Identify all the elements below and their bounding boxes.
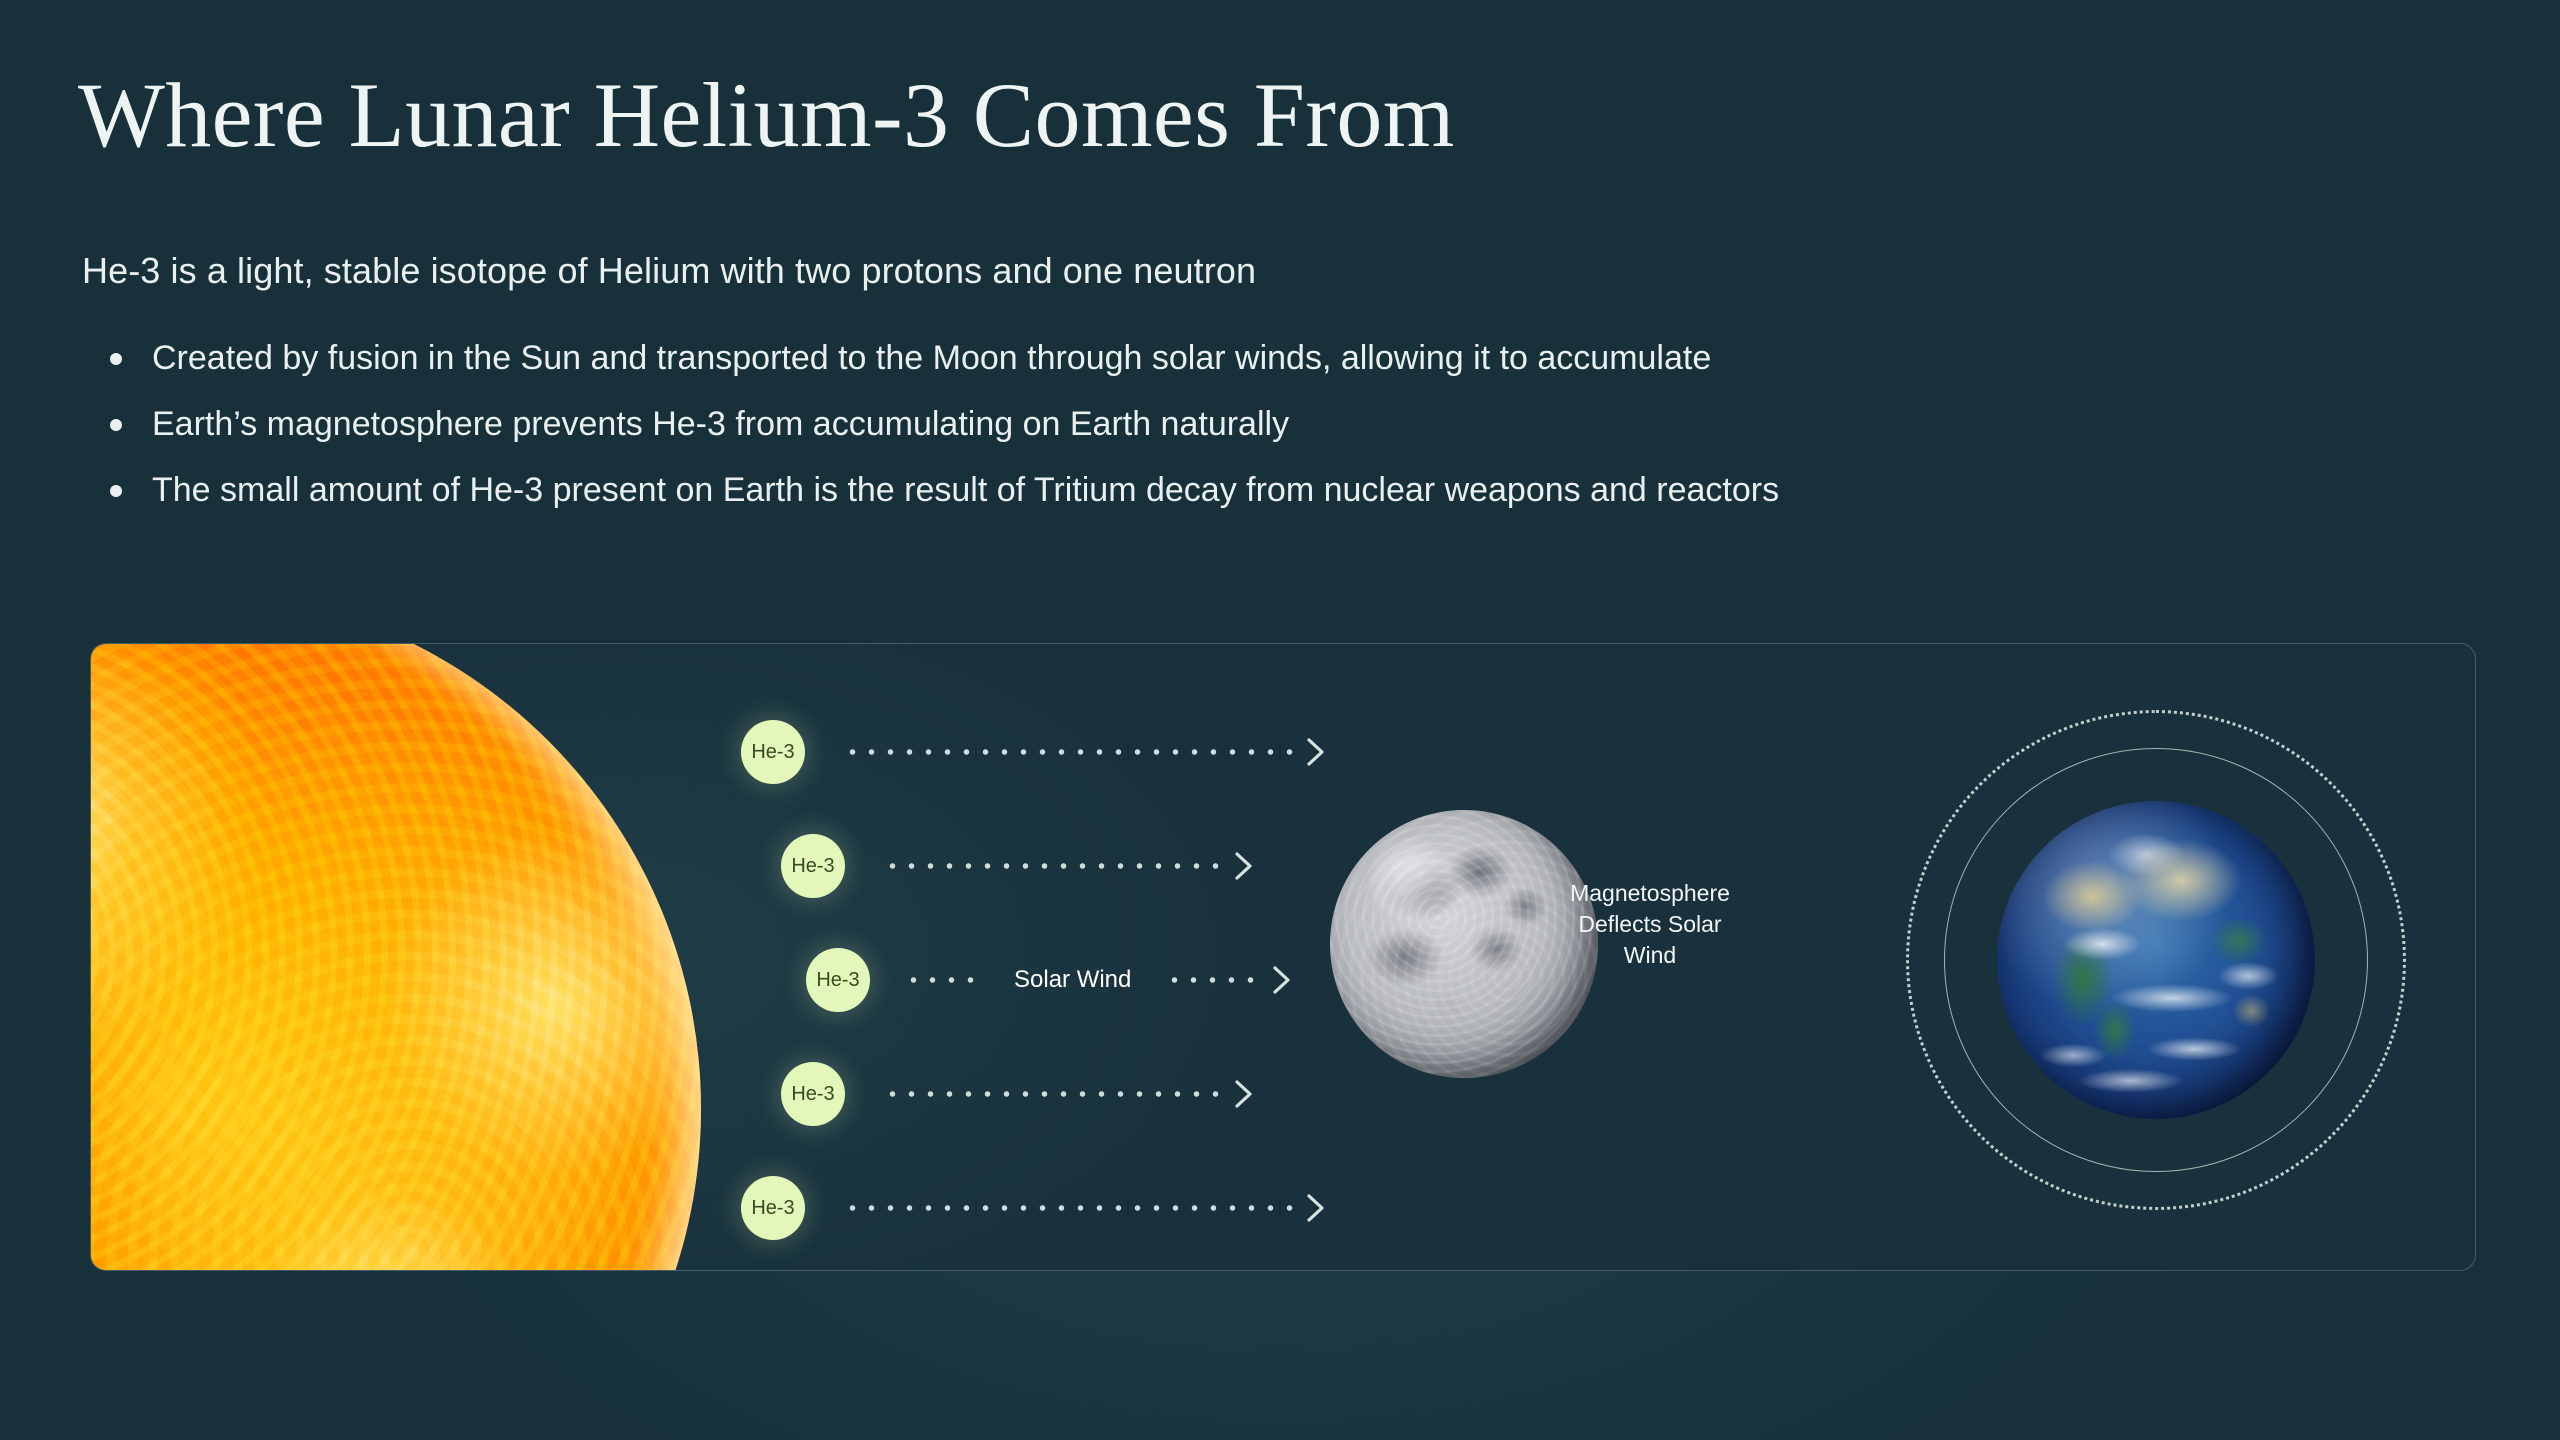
he3-badge-label: He-3	[816, 969, 859, 992]
arrow-right-icon	[1269, 963, 1295, 997]
he3-badge: He-3	[781, 1062, 845, 1126]
earth-clouds	[1997, 801, 2315, 1119]
he3-badge-label: He-3	[791, 1083, 834, 1106]
dotted-path	[1165, 977, 1265, 983]
bullet-dot-icon	[110, 419, 122, 431]
magnetosphere-label-line: Deflects Solar	[1535, 909, 1765, 940]
he3-badge-label: He-3	[751, 741, 794, 764]
solar-wind-label: Solar Wind	[1014, 966, 1131, 994]
dotted-path	[843, 1205, 1299, 1211]
he3-badge: He-3	[806, 948, 870, 1012]
bullet-text: Earth’s magnetosphere prevents He-3 from…	[152, 402, 1289, 447]
list-item: The small amount of He-3 present on Eart…	[110, 468, 1779, 513]
arrow-right-icon	[1303, 1191, 1329, 1225]
bullet-list: Created by fusion in the Sun and transpo…	[110, 336, 1779, 534]
particle-row: He-3	[781, 1058, 1257, 1130]
bullet-dot-icon	[110, 485, 122, 497]
he3-badge: He-3	[741, 720, 805, 784]
dotted-path	[883, 863, 1227, 869]
dotted-path	[904, 977, 980, 983]
diagram-card: He-3 He-3 He-3 Solar Wind	[90, 643, 2476, 1271]
dotted-path	[843, 749, 1299, 755]
magnetosphere-label: Magnetosphere Deflects Solar Wind	[1535, 878, 1765, 970]
he3-badge: He-3	[741, 1176, 805, 1240]
particle-row: He-3	[741, 716, 1329, 788]
bullet-text: The small amount of He-3 present on Eart…	[152, 468, 1779, 513]
he3-badge-label: He-3	[751, 1197, 794, 1220]
list-item: Created by fusion in the Sun and transpo…	[110, 336, 1779, 381]
earth-group	[1896, 680, 2416, 1240]
he3-badge-label: He-3	[791, 855, 834, 878]
magnetosphere-label-line: Wind	[1535, 940, 1765, 971]
earth-image	[1997, 801, 2315, 1119]
he3-badge: He-3	[781, 834, 845, 898]
arrow-right-icon	[1303, 735, 1329, 769]
particle-row: He-3 Solar Wind	[806, 944, 1295, 1016]
page-title: Where Lunar Helium-3 Comes From	[78, 62, 1455, 168]
arrow-right-icon	[1231, 849, 1257, 883]
list-item: Earth’s magnetosphere prevents He-3 from…	[110, 402, 1779, 447]
bullet-text: Created by fusion in the Sun and transpo…	[152, 336, 1711, 381]
dotted-path	[883, 1091, 1227, 1097]
particle-row: He-3	[781, 830, 1257, 902]
subtitle-text: He-3 is a light, stable isotope of Heliu…	[82, 250, 1256, 292]
particle-row: He-3	[741, 1172, 1329, 1244]
magnetosphere-label-line: Magnetosphere	[1535, 878, 1765, 909]
arrow-right-icon	[1231, 1077, 1257, 1111]
bullet-dot-icon	[110, 353, 122, 365]
